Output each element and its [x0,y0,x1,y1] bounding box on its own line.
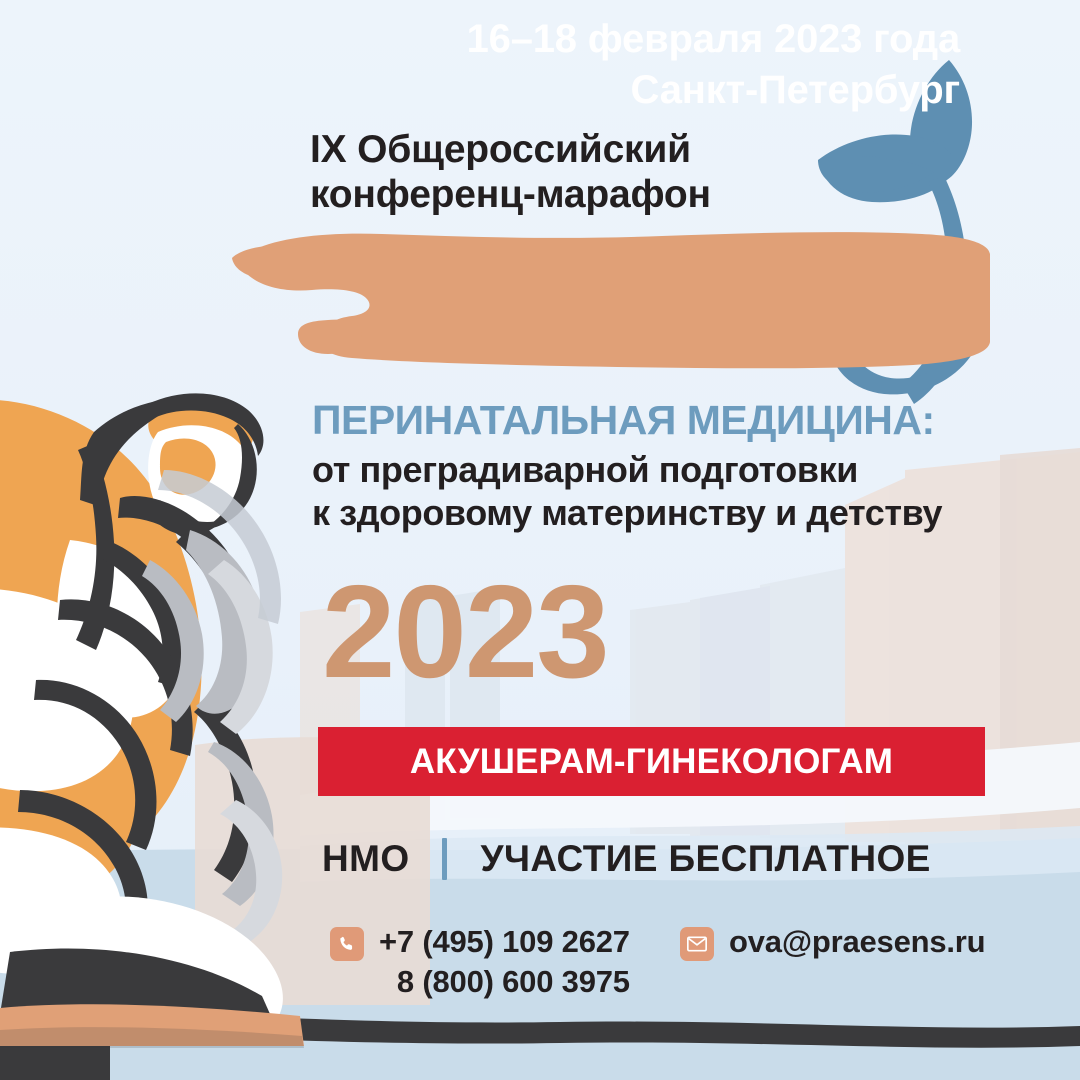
free-participation-label: УЧАСТИЕ БЕСПЛАТНОЕ [481,838,931,880]
event-dates-location: 16–18 февраля 2023 года Санкт-Петербург [340,14,960,116]
phone-secondary: 8 (800) 600 3975 [379,962,630,1002]
vertical-divider [442,838,447,880]
event-city: Санкт-Петербург [340,65,960,116]
envelope-icon [680,927,714,961]
year-display: 2023 [322,566,608,698]
contact-row: +7 (495) 109 2627 8 (800) 600 3975 ova@p… [330,922,1030,1003]
conference-title-line2: конференц-марафон [310,173,870,218]
phone-primary: +7 (495) 109 2627 [379,922,630,962]
dates-brush-banner [232,222,992,372]
conference-title: IX Общероссийский конференц-марафон [310,128,870,218]
main-heading: ПЕРИНАТАЛЬНАЯ МЕДИЦИНА: от преградиварно… [312,398,1002,535]
phone-numbers: +7 (495) 109 2627 8 (800) 600 3975 [379,922,630,1003]
phone-icon [330,927,364,961]
poster-canvas: IX Общероссийский конференц-марафон 16–1… [0,0,1080,1080]
email-contact[interactable]: ova@praesens.ru [680,922,985,962]
main-heading-line2: от преградиварной подготовки [312,448,1002,491]
event-dates: 16–18 февраля 2023 года [340,14,960,65]
conference-title-line1: IX Общероссийский [310,128,691,171]
main-heading-accent: ПЕРИНАТАЛЬНАЯ МЕДИЦИНА: [312,398,1002,442]
contacts-block: +7 (495) 109 2627 8 (800) 600 3975 ova@p… [330,922,1030,1003]
audience-banner: АКУШЕРАМ-ГИНЕКОЛОГАМ [318,727,985,796]
accreditation-row: НМО УЧАСТИЕ БЕСПЛАТНОЕ [322,838,931,880]
phone-contact[interactable]: +7 (495) 109 2627 8 (800) 600 3975 [330,922,630,1003]
nmo-label: НМО [322,838,410,880]
email-address: ova@praesens.ru [729,922,985,962]
main-heading-line3: к здоровому материнству и детству [312,491,1002,534]
audience-banner-label: АКУШЕРАМ-ГИНЕКОЛОГАМ [410,742,893,782]
